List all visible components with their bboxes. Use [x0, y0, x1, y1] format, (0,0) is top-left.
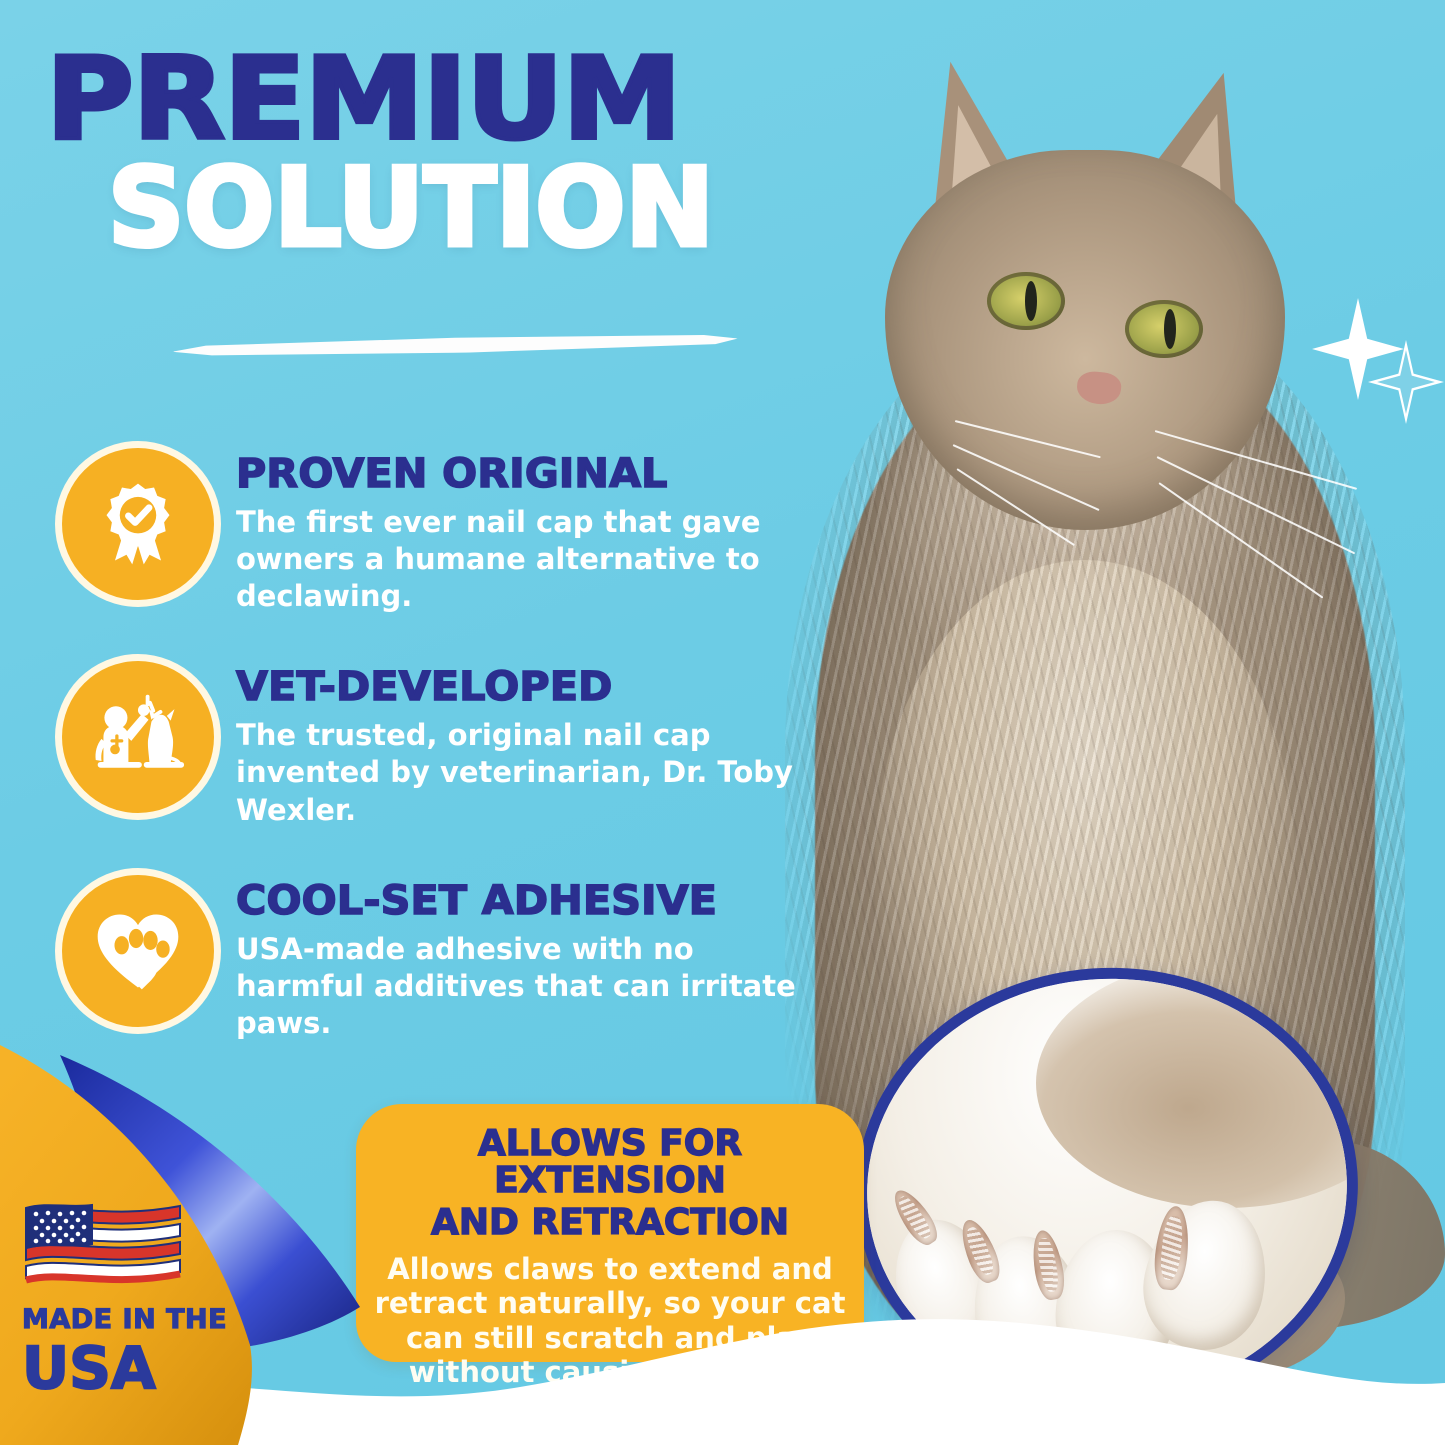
feature-body: USA-made adhesive with no harmful additi…: [236, 931, 806, 1042]
heart-paw-icon: [62, 875, 214, 1027]
feature-text: VET-DEVELOPED The trusted, original nail…: [236, 661, 806, 828]
vet-high-five-cat-icon: [62, 661, 214, 813]
feature-text: PROVEN ORIGINAL The first ever nail cap …: [236, 448, 806, 615]
made-in-usa-badge: MADE IN THE USA: [22, 1196, 252, 1397]
feature-title: PROVEN ORIGINAL: [236, 454, 823, 494]
product-feature-graphic: PREMIUM SOLUTION PROVEN ORIGINAL T: [0, 0, 1445, 1445]
feature-text: COOL-SET ADHESIVE USA-made adhesive with…: [236, 875, 806, 1042]
feature-item: PROVEN ORIGINAL The first ever nail cap …: [62, 448, 842, 615]
made-in-usa-line-1: MADE IN THE: [22, 1306, 252, 1333]
feature-item: VET-DEVELOPED The trusted, original nail…: [62, 661, 842, 828]
feature-item: COOL-SET ADHESIVE USA-made adhesive with…: [62, 875, 842, 1042]
feature-title: COOL-SET ADHESIVE: [236, 881, 823, 921]
feature-list: PROVEN ORIGINAL The first ever nail cap …: [62, 448, 842, 1088]
headline-line-1: PREMIUM: [46, 48, 894, 152]
cat-paw-with-nail-caps-closeup: [841, 951, 1373, 1427]
us-flag-icon: [22, 1196, 184, 1292]
feature-title: VET-DEVELOPED: [236, 667, 823, 707]
feature-body: The first ever nail cap that gave owners…: [236, 504, 806, 615]
cat-pupil-right: [1164, 309, 1176, 349]
headline-line-2: SOLUTION: [108, 158, 831, 261]
page-curl-usa-corner: MADE IN THE USA: [0, 1045, 470, 1445]
award-ribbon-check-icon: [62, 448, 214, 600]
headline-swoosh: [172, 327, 738, 364]
cat-pupil-left: [1025, 281, 1037, 321]
headline-block: PREMIUM SOLUTION: [46, 48, 846, 261]
made-in-usa-line-2: USA: [22, 1339, 252, 1397]
sparkle-outline-icon: [1368, 340, 1444, 424]
feature-body: The trusted, original nail cap invented …: [236, 717, 806, 828]
